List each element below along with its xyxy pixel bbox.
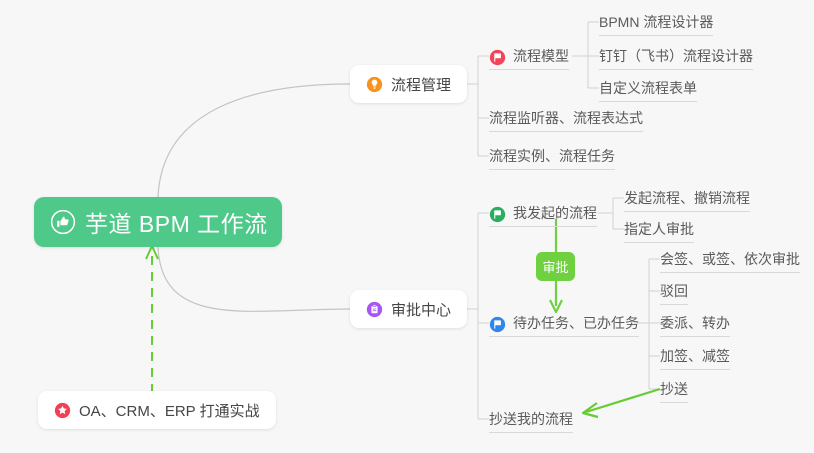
node-label: 抄送 xyxy=(660,379,688,399)
branch-approval-center[interactable]: 审批中心 xyxy=(350,290,467,328)
node-delegate-transfer[interactable]: 委派、转办 xyxy=(660,309,730,337)
footer-node-integration[interactable]: OA、CRM、ERP 打通实战 xyxy=(38,391,276,429)
node-label: 待办任务、已办任务 xyxy=(513,313,639,333)
root-node[interactable]: 芋道 BPM 工作流 xyxy=(34,197,282,247)
approval-badge: 审批 xyxy=(536,252,575,281)
flag-icon xyxy=(489,316,506,333)
mindmap-canvas: 芋道 BPM 工作流 OA、CRM、ERP 打通实战 流程管理 xyxy=(0,0,814,453)
branch-process-management[interactable]: 流程管理 xyxy=(350,65,467,103)
link-root-to-process-management xyxy=(158,84,350,197)
node-bpmn-designer[interactable]: BPMN 流程设计器 xyxy=(599,8,713,36)
approval-badge-label: 审批 xyxy=(542,257,568,276)
footer-label: OA、CRM、ERP 打通实战 xyxy=(79,400,260,421)
flag-icon xyxy=(489,206,506,223)
node-designated-approver[interactable]: 指定人审批 xyxy=(624,215,694,243)
flag-icon xyxy=(489,49,506,66)
node-label: 指定人审批 xyxy=(624,219,694,239)
node-label: 驳回 xyxy=(660,281,688,301)
thumbs-up-icon xyxy=(50,209,76,235)
node-label: 委派、转办 xyxy=(660,313,730,333)
node-label: 钉钉（飞书）流程设计器 xyxy=(599,46,753,66)
node-label: 加签、减签 xyxy=(660,346,730,366)
node-process-instance-task[interactable]: 流程实例、流程任务 xyxy=(489,142,615,170)
node-reject[interactable]: 驳回 xyxy=(660,277,688,305)
node-add-remove-sign[interactable]: 加签、减签 xyxy=(660,342,730,370)
branch-label: 审批中心 xyxy=(391,299,451,320)
lightbulb-icon xyxy=(366,76,383,93)
node-dingtalk-feishu-designer[interactable]: 钉钉（飞书）流程设计器 xyxy=(599,42,753,70)
node-countersign-types[interactable]: 会签、或签、依次审批 xyxy=(660,245,800,273)
node-label: 我发起的流程 xyxy=(513,203,597,223)
node-label: 流程监听器、流程表达式 xyxy=(489,108,643,128)
star-icon xyxy=(54,402,71,419)
node-start-cancel-process[interactable]: 发起流程、撤销流程 xyxy=(624,184,750,212)
node-label: 发起流程、撤销流程 xyxy=(624,188,750,208)
node-label: BPMN 流程设计器 xyxy=(599,12,713,32)
node-custom-process-form[interactable]: 自定义流程表单 xyxy=(599,74,697,102)
node-carbon-copy[interactable]: 抄送 xyxy=(660,375,688,403)
branch-label: 流程管理 xyxy=(391,74,451,95)
node-label: 流程实例、流程任务 xyxy=(489,146,615,166)
cc-flow-arrow xyxy=(583,389,660,417)
integration-flow-arrow xyxy=(146,246,158,393)
node-label: 自定义流程表单 xyxy=(599,78,697,98)
node-label: 会签、或签、依次审批 xyxy=(660,249,800,269)
node-label: 抄送我的流程 xyxy=(489,409,573,429)
node-label: 流程模型 xyxy=(513,46,569,66)
node-cc-to-me-process[interactable]: 抄送我的流程 xyxy=(489,405,573,433)
node-my-initiated-process[interactable]: 我发起的流程 xyxy=(489,199,597,227)
node-process-model[interactable]: 流程模型 xyxy=(489,42,569,70)
clipboard-icon xyxy=(366,301,383,318)
node-todo-done-tasks[interactable]: 待办任务、已办任务 xyxy=(489,309,639,337)
root-label: 芋道 BPM 工作流 xyxy=(85,205,268,239)
link-root-to-approval-center xyxy=(158,247,350,311)
node-process-listener-expression[interactable]: 流程监听器、流程表达式 xyxy=(489,104,643,132)
